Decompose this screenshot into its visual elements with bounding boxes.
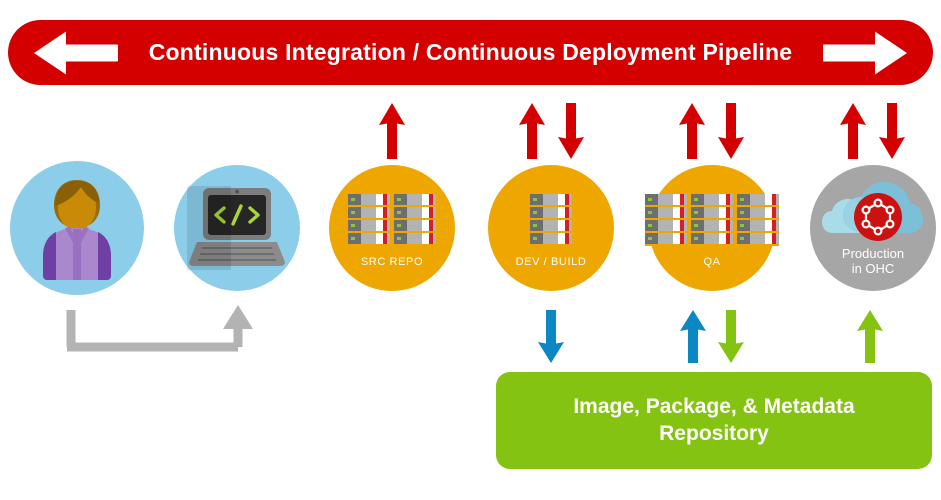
cicd-pipeline-diagram: Continuous Integration / Continuous Depl… [0,0,941,500]
repository-label-line2: Repository [573,421,854,448]
arrow-up-production [839,103,867,159]
arrow-down-repo-dev-build [537,310,565,363]
node-developer[interactable] [10,161,144,295]
arrow-up-qa [678,103,706,159]
arrow-left-icon [32,30,118,76]
arrow-up-repo-qa [679,310,707,363]
node-workstation[interactable] [174,165,300,291]
node-production[interactable]: Production in OHC [810,165,936,291]
feedback-loop-arrow [62,305,262,361]
arrow-down-repo-qa [717,310,745,363]
server-rack-icon [645,194,779,246]
repository-label-line1: Image, Package, & Metadata [573,394,854,421]
node-label-production-line2: in OHC [842,262,904,277]
node-qa[interactable]: QA [649,165,775,291]
node-src-repo[interactable]: SRC REPO [329,165,455,291]
person-icon [29,176,125,280]
node-label-qa: QA [703,256,720,269]
cloud-network-icon [821,181,925,243]
node-label-dev-build: DEV / BUILD [516,256,587,269]
arrow-up-src-repo [378,103,406,159]
arrow-down-production [878,103,906,159]
arrow-down-qa [717,103,745,159]
node-dev-build[interactable]: DEV / BUILD [488,165,614,291]
arrow-up-repo-production [856,310,884,363]
node-label-production-line1: Production [842,247,904,262]
server-rack-icon [530,194,572,246]
repository-box[interactable]: Image, Package, & Metadata Repository [496,372,932,469]
pipeline-banner-title: Continuous Integration / Continuous Depl… [149,39,793,66]
server-rack-icon [348,194,436,246]
arrow-up-dev-build [518,103,546,159]
arrow-down-dev-build [557,103,585,159]
laptop-code-icon [187,186,287,270]
pipeline-banner: Continuous Integration / Continuous Depl… [8,20,933,85]
repository-box-label: Image, Package, & Metadata Repository [573,394,854,448]
arrow-right-icon [823,30,909,76]
node-label-src-repo: SRC REPO [361,256,423,269]
